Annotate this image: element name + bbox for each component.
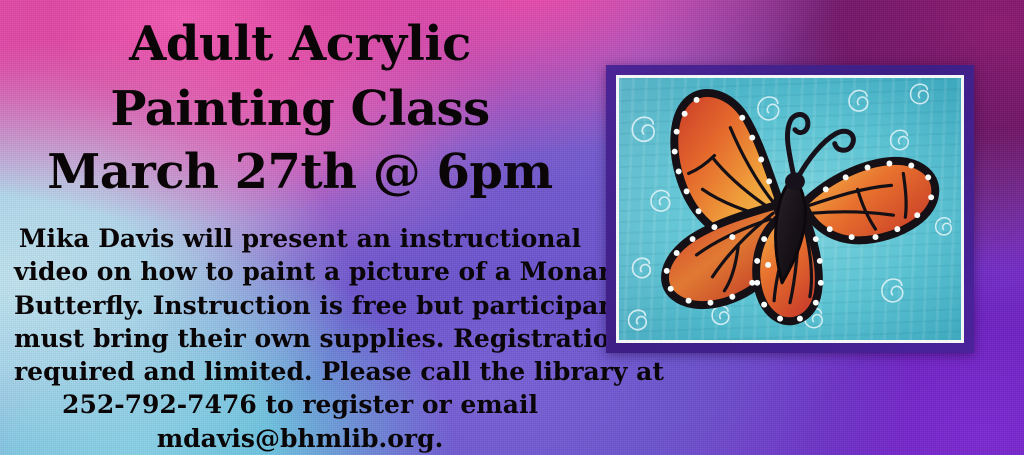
description-line-1: Mika Davis will present an instructional <box>14 222 586 255</box>
headline-line-2: Painting Class <box>0 85 600 133</box>
description-line-4: must bring their own supplies. Registrat… <box>14 322 586 355</box>
description-line-6-phone: 252-792-7476 to register or email <box>14 388 586 421</box>
description-line-2: video on how to paint a picture of a Mon… <box>14 255 586 288</box>
description-line-5: required and limited. Please call the li… <box>14 355 586 388</box>
painting-frame <box>606 65 974 353</box>
painting-mat <box>616 75 964 343</box>
event-flyer: Adult Acrylic Painting Class March 27th … <box>0 0 1024 455</box>
headline-line-3-date: March 27th @ 6pm <box>0 148 600 196</box>
description-line-3: Butterfly. Instruction is free but parti… <box>14 289 586 322</box>
headline-line-1: Adult Acrylic <box>0 20 600 68</box>
description-line-7-email: mdavis@bhmlib.org. <box>14 422 586 455</box>
painting-canvas <box>619 78 961 340</box>
flyer-text-column: Adult Acrylic Painting Class March 27th … <box>0 0 600 455</box>
event-description: Mika Davis will present an instructional… <box>14 222 586 455</box>
monarch-butterfly-illustration <box>619 78 961 338</box>
